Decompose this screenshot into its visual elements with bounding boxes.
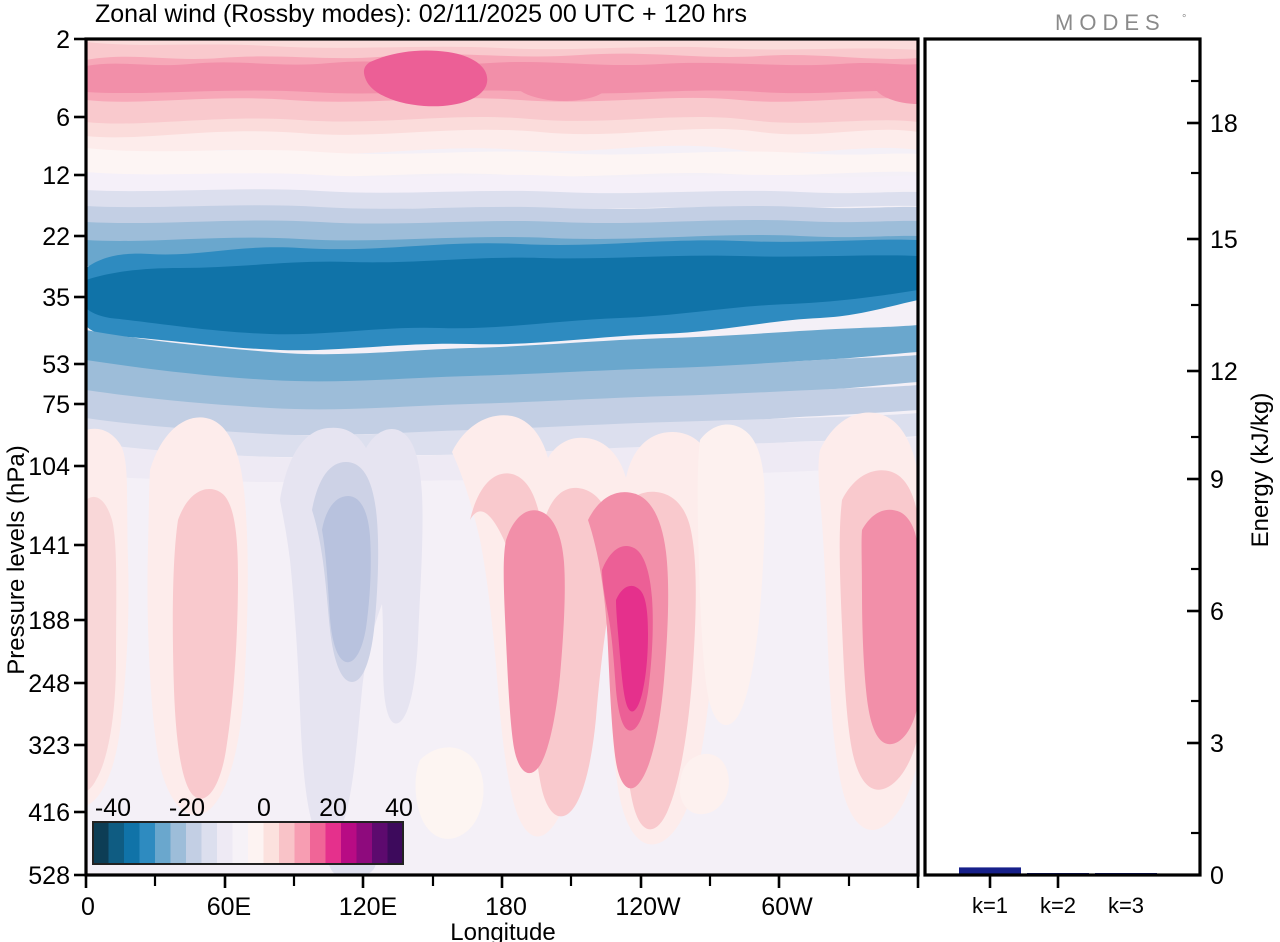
bar-category-label: k=3 <box>1108 893 1144 918</box>
energy-panel: 0 3 6 9 12 15 18 Energy (kJ/kg) k=1 k=2 … <box>925 39 1274 918</box>
x-tick-label: 120E <box>339 893 397 921</box>
colorbar-swatch <box>310 822 326 864</box>
energy-tick-label: 9 <box>1210 466 1224 494</box>
x-axis-label: Longitude <box>450 919 555 942</box>
y-tick-label: 53 <box>42 351 70 379</box>
colorbar-tick-label: 0 <box>257 794 271 822</box>
colorbar-swatch <box>233 822 249 864</box>
colorbar-swatch <box>388 822 404 864</box>
colorbar-swatch <box>186 822 202 864</box>
y-tick-label: 2 <box>56 26 70 54</box>
energy-tick-label: 3 <box>1210 730 1224 758</box>
energy-axis-label: Energy (kJ/kg) <box>1247 393 1274 548</box>
colorbar-swatches <box>93 822 403 864</box>
colorbar-swatch <box>279 822 295 864</box>
contour-panel <box>86 39 918 876</box>
y-tick-label: 188 <box>28 607 70 635</box>
energy-tick-label: 15 <box>1210 226 1238 254</box>
colorbar-swatch <box>341 822 357 864</box>
y-axis-label: Pressure levels (hPa) <box>3 445 30 674</box>
colorbar-swatch <box>109 822 125 864</box>
energy-tick-label: 12 <box>1210 358 1238 386</box>
y-tick-label: 104 <box>28 453 70 481</box>
y-tick-label: 416 <box>28 799 70 827</box>
x-tick-label: 0 <box>81 893 95 921</box>
bar-category-label: k=1 <box>972 893 1008 918</box>
y-tick-label: 75 <box>42 391 70 419</box>
x-tick-label: 60W <box>761 893 813 921</box>
watermark-degree-icon: ° <box>1182 13 1186 25</box>
pressure-axis-ticks <box>74 39 86 875</box>
colorbar-tick-label: 40 <box>385 794 413 822</box>
energy-tick-label: 0 <box>1210 862 1224 890</box>
colorbar-swatch <box>140 822 156 864</box>
colorbar-swatch <box>155 822 171 864</box>
colorbar-tick-label: 20 <box>319 794 347 822</box>
y-tick-label: 323 <box>28 732 70 760</box>
y-tick-label: 6 <box>56 104 70 132</box>
colorbar-swatch <box>248 822 264 864</box>
y-tick-label: 141 <box>28 532 70 560</box>
y-tick-label: 12 <box>42 162 70 190</box>
colorbar-tick-label: -40 <box>95 794 131 822</box>
colorbar-swatch <box>217 822 233 864</box>
y-tick-label: 248 <box>28 670 70 698</box>
y-tick-label: 35 <box>42 284 70 312</box>
y-tick-label: 528 <box>28 862 70 890</box>
colorbar-swatch <box>326 822 342 864</box>
colorbar-swatch <box>93 822 109 864</box>
x-tick-label: 60E <box>207 893 251 921</box>
colorbar-swatch <box>295 822 311 864</box>
x-tick-label: 180 <box>485 893 527 921</box>
modes-watermark: MODES ° <box>1055 10 1186 35</box>
watermark-text: MODES <box>1055 10 1166 35</box>
pressure-axis: 2 6 12 22 35 53 75 104 141 188 248 323 4… <box>3 26 86 890</box>
colorbar-swatch <box>264 822 280 864</box>
colorbar-swatch <box>357 822 373 864</box>
bar-category-label: k=2 <box>1040 893 1076 918</box>
energy-tick-label: 18 <box>1210 110 1238 138</box>
energy-tick-label: 6 <box>1210 598 1224 626</box>
longitude-axis-ticks <box>86 875 918 888</box>
x-tick-label: 120W <box>615 893 681 921</box>
chart-title: Zonal wind (Rossby modes): 02/11/2025 00… <box>95 0 747 28</box>
colorbar-swatch <box>124 822 140 864</box>
colorbar-swatch <box>372 822 388 864</box>
wavenumber-axis-ticks <box>990 875 1058 888</box>
y-tick-label: 22 <box>42 223 70 251</box>
colorbar-tick-label: -20 <box>169 794 205 822</box>
colorbar-swatch <box>171 822 187 864</box>
longitude-axis: 0 60E 120E 180 120W 60W Longitude <box>81 875 918 942</box>
colorbar-swatch <box>202 822 218 864</box>
